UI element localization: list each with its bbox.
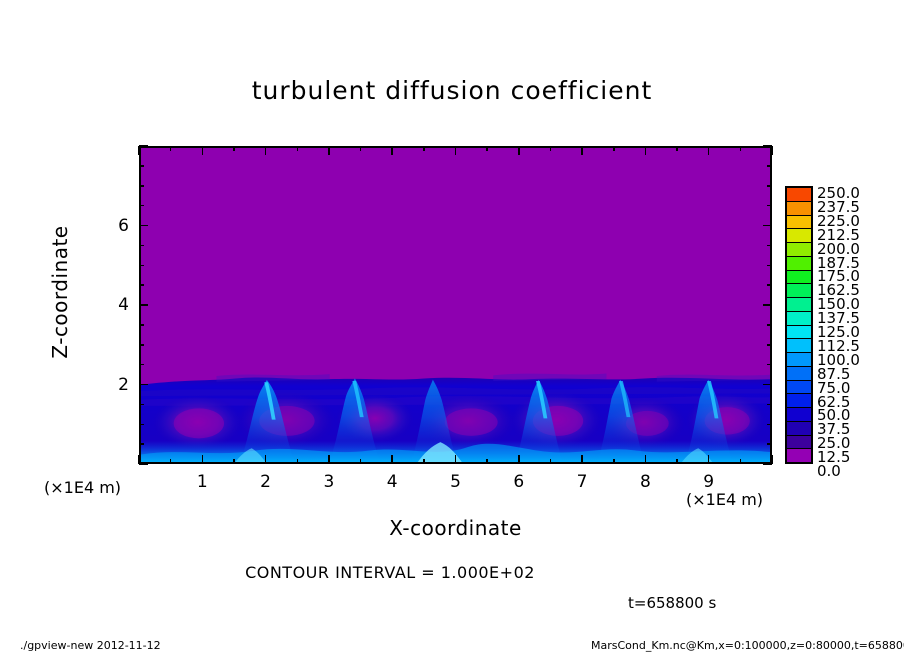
colorbar-band <box>787 353 811 367</box>
x-tick <box>297 459 299 464</box>
colorbar-band <box>787 298 811 312</box>
colorbar-band <box>787 436 811 450</box>
x-tick-label: 4 <box>379 472 405 492</box>
x-tick-label: 3 <box>316 472 342 492</box>
x-tick-top <box>518 146 520 155</box>
y-tick <box>139 145 148 147</box>
x-tick-top <box>771 146 773 155</box>
x-tick <box>613 459 615 464</box>
y-tick <box>139 304 148 306</box>
colorbar-band <box>787 229 811 243</box>
x-tick-top <box>391 146 393 155</box>
colorbar-band <box>787 257 811 271</box>
y-tick-right <box>767 324 772 326</box>
x-tick <box>170 459 172 464</box>
colorbar-tick-label: 0.0 <box>817 462 841 480</box>
y-tick <box>139 324 144 326</box>
y-axis-title: Z-coordinate <box>48 192 72 392</box>
x-tick <box>581 455 583 464</box>
x-tick-top <box>550 146 552 151</box>
x-tick-top <box>676 146 678 151</box>
x-tick-top <box>297 146 299 151</box>
y-tick-right <box>767 185 772 187</box>
y-tick-right <box>767 424 772 426</box>
y-tick <box>139 165 144 167</box>
footer-command-label: ./gpview-new 2012-11-12 <box>20 639 161 652</box>
y-tick-right <box>767 284 772 286</box>
y-tick-right <box>763 384 772 386</box>
y-tick-label: 6 <box>105 216 129 236</box>
y-tick-right <box>767 205 772 207</box>
y-tick <box>139 245 144 247</box>
x-tick-top <box>708 146 710 155</box>
colorbar-band <box>787 202 811 216</box>
x-tick <box>645 455 647 464</box>
colorbar-band <box>787 312 811 326</box>
x-tick-top <box>581 146 583 155</box>
y-tick-right <box>767 443 772 445</box>
y-tick-right <box>763 304 772 306</box>
colorbar-labels: 250.0237.5225.0212.5200.0187.5175.0162.5… <box>817 192 897 484</box>
chart-title: turbulent diffusion coefficient <box>0 76 904 105</box>
x-tick <box>328 455 330 464</box>
x-unit-right-label: (×1E4 m) <box>686 490 763 509</box>
x-tick-top <box>202 146 204 155</box>
x-tick-top <box>360 146 362 151</box>
x-tick <box>550 459 552 464</box>
x-tick-top <box>645 146 647 155</box>
x-tick <box>202 455 204 464</box>
colorbar-band <box>787 339 811 353</box>
x-tick-top <box>455 146 457 155</box>
y-tick <box>139 344 144 346</box>
y-tick-label: 4 <box>105 295 129 315</box>
y-tick <box>139 404 144 406</box>
colorbar <box>785 186 813 464</box>
x-tick-label: 9 <box>696 472 722 492</box>
y-tick <box>139 384 148 386</box>
x-tick <box>391 455 393 464</box>
x-tick-top <box>328 146 330 155</box>
y-tick-right <box>763 225 772 227</box>
y-tick <box>139 205 144 207</box>
x-tick <box>740 459 742 464</box>
x-tick-label: 5 <box>443 472 469 492</box>
y-tick <box>139 225 148 227</box>
y-tick <box>139 424 144 426</box>
colorbar-band <box>787 422 811 436</box>
x-tick-top <box>486 146 488 151</box>
x-tick-top <box>265 146 267 155</box>
x-tick-label: 7 <box>569 472 595 492</box>
colorbar-band <box>787 188 811 202</box>
colorbar-band <box>787 394 811 408</box>
x-tick <box>423 459 425 464</box>
x-tick-label: 8 <box>632 472 658 492</box>
y-tick-right <box>767 265 772 267</box>
y-tick <box>139 265 144 267</box>
y-tick-right <box>767 165 772 167</box>
x-tick-label: 2 <box>253 472 279 492</box>
colorbar-band <box>787 284 811 298</box>
plot-area <box>139 146 772 464</box>
colorbar-band <box>787 271 811 285</box>
y-tick <box>139 463 148 465</box>
x-tick <box>486 459 488 464</box>
colorbar-band <box>787 243 811 257</box>
time-label: t=658800 s <box>628 594 716 612</box>
x-tick-label: 6 <box>506 472 532 492</box>
y-tick-right <box>763 463 772 465</box>
x-tick-top <box>423 146 425 151</box>
y-tick <box>139 364 144 366</box>
y-tick-right <box>767 245 772 247</box>
colorbar-band <box>787 367 811 381</box>
y-tick-right <box>767 344 772 346</box>
x-tick-top <box>613 146 615 151</box>
x-tick-top <box>233 146 235 151</box>
y-tick <box>139 443 144 445</box>
x-tick-top <box>170 146 172 151</box>
y-tick-right <box>763 145 772 147</box>
y-tick-label: 2 <box>105 375 129 395</box>
x-tick <box>233 459 235 464</box>
x-tick <box>708 455 710 464</box>
y-tick <box>139 185 144 187</box>
contour-interval-label: CONTOUR INTERVAL = 1.000E+02 <box>0 563 780 582</box>
x-axis-title: X-coordinate <box>139 516 772 540</box>
x-unit-left-label: (×1E4 m) <box>44 478 121 497</box>
x-tick <box>518 455 520 464</box>
x-tick <box>676 459 678 464</box>
y-tick-right <box>767 364 772 366</box>
x-tick-label: 1 <box>189 472 215 492</box>
x-tick-top <box>740 146 742 151</box>
y-tick-right <box>767 404 772 406</box>
colorbar-band <box>787 216 811 230</box>
x-tick <box>360 459 362 464</box>
x-tick <box>265 455 267 464</box>
colorbar-band <box>787 381 811 395</box>
colorbar-band <box>787 326 811 340</box>
x-tick-top <box>138 146 140 155</box>
x-tick <box>455 455 457 464</box>
y-tick <box>139 284 144 286</box>
colorbar-band <box>787 449 811 462</box>
footer-source-label: MarsCond_Km.nc@Km,x=0:100000,z=0:80000,t… <box>591 639 904 652</box>
heatmap-field <box>141 148 770 462</box>
colorbar-band <box>787 408 811 422</box>
